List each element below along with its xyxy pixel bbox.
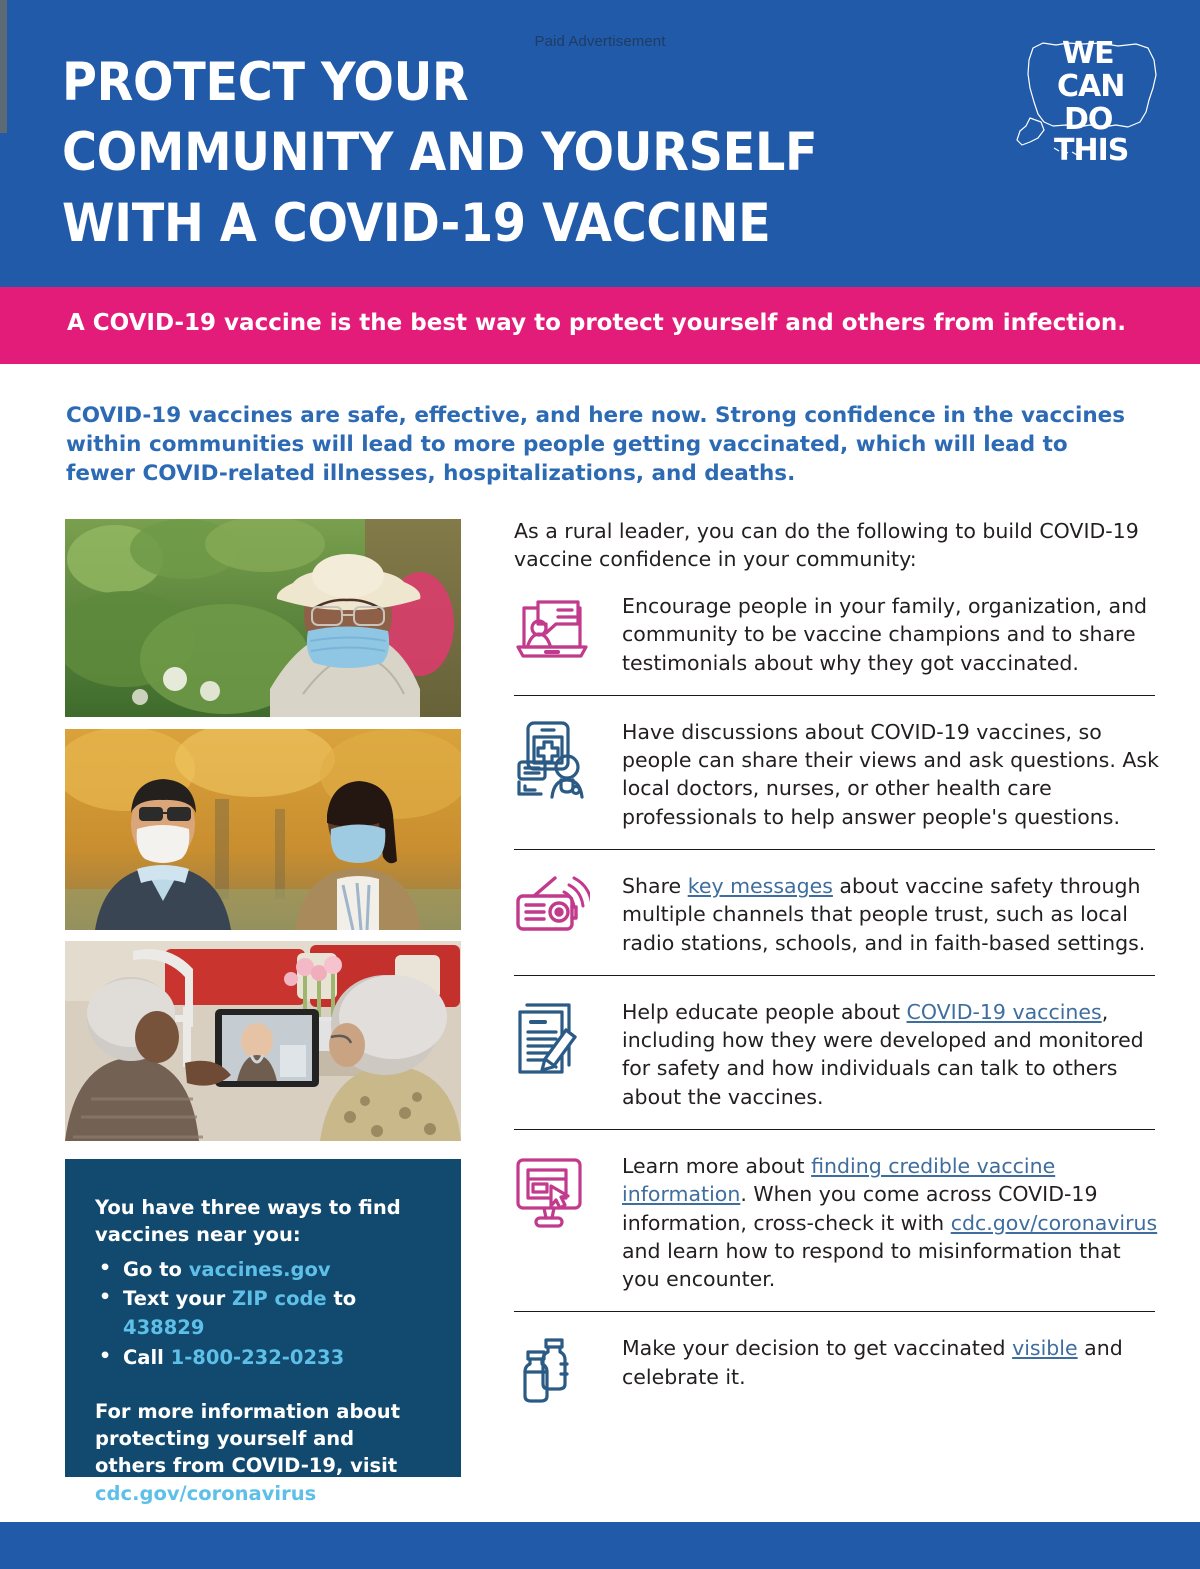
list-item: Learn more about finding credible vaccin… [514,1150,1159,1293]
list-item: Help educate people about COVID-19 vacci… [514,996,1159,1111]
intro-paragraph: COVID-19 vaccines are safe, effective, a… [66,402,1141,488]
tip-text: Make your decision to get vaccinated vis… [622,1332,1159,1391]
tip-text: Encourage people in your family, organiz… [622,590,1159,677]
banner-text: A COVID-19 vaccine is the best way to pr… [67,307,1147,339]
mobile-health-doctor-icon [514,716,622,800]
zip-code-emphasis: ZIP code [232,1287,327,1310]
headline-line-3: WITH A COVID-19 VACCINE [62,189,982,259]
tips-list: Encourage people in your family, organiz… [514,590,1159,1404]
cdc-gov-coronavirus-link[interactable]: cdc.gov/coronavirus [951,1211,1157,1235]
list-item: Make your decision to get vaccinated vis… [514,1332,1159,1404]
page-footer-bar [0,1522,1200,1569]
bullet-prefix: Text your [123,1287,232,1310]
logo-line-can: CAN [1057,69,1124,104]
more-info-prefix: For more information about protecting yo… [95,1400,400,1478]
covid-19-vaccines-link[interactable]: COVID-19 vaccines [907,1000,1102,1024]
sms-shortcode: 438829 [123,1316,204,1339]
bullet-middle: to [327,1287,357,1310]
list-item: Encourage people in your family, organiz… [514,590,1159,677]
logo-line-this: THIS [1054,133,1128,165]
bullet-prefix: Go to [123,1258,189,1281]
list-item: Go to vaccines.gov [95,1255,431,1284]
key-messages-link[interactable]: key messages [688,874,833,898]
infobox-bullet-list: Go to vaccines.gov Text your ZIP code to… [95,1255,431,1372]
tip-text-part: Help educate people about [622,1000,907,1024]
photo-two-people-talking-outdoors [65,729,461,930]
tip-text-part: Make your decision to get vaccinated [622,1336,1012,1360]
tip-text: Learn more about finding credible vaccin… [622,1150,1159,1293]
infobox-more-info: For more information about protecting yo… [95,1398,431,1507]
logo-line-we: WE [1062,36,1114,71]
visible-link[interactable]: visible [1012,1336,1078,1360]
tip-text-part: Share [622,874,688,898]
tip-text: Have discussions about COVID-19 vaccines… [622,716,1159,831]
list-item: Call 1-800-232-0233 [95,1343,431,1372]
vaccine-vials-icon [514,1332,622,1404]
photo-older-couple-telehealth-tablet [65,941,461,1141]
photo-man-in-hat-wearing-mask [65,519,461,717]
key-message-banner: A COVID-19 vaccine is the best way to pr… [0,287,1200,364]
laptop-chat-person-icon [514,590,622,664]
vaccines-gov-link[interactable]: vaccines.gov [189,1258,331,1281]
left-edge-artifact [0,0,7,133]
tip-text-part: Learn more about [622,1154,811,1178]
page-title: PROTECT YOUR COMMUNITY AND YOURSELF WITH… [62,48,982,259]
desktop-monitor-cursor-icon [514,1150,622,1232]
document-pen-icon [514,996,622,1080]
tip-text: Share key messages about vaccine safety … [622,870,1159,957]
page-header: Paid Advertisement PROTECT YOUR COMMUNIT… [0,0,1200,287]
cdc-coronavirus-link[interactable]: cdc.gov/coronavirus [95,1482,316,1505]
headline-line-2: COMMUNITY AND YOURSELF [62,118,982,188]
headline-line-1: PROTECT YOUR [62,48,982,118]
list-item: Have discussions about COVID-19 vaccines… [514,716,1159,831]
find-vaccines-infobox: You have three ways to find vaccines nea… [65,1159,461,1477]
more-info-suffix: . [316,1482,323,1505]
phone-number-link[interactable]: 1-800-232-0233 [171,1346,345,1369]
bullet-prefix: Call [123,1346,171,1369]
lead-paragraph: As a rural leader, you can do the follow… [514,518,1156,574]
logo-line-do: DO [1064,102,1112,137]
radio-broadcast-icon [514,870,622,936]
list-item: Share key messages about vaccine safety … [514,870,1159,957]
list-item: Text your ZIP code to 438829 [95,1284,431,1343]
tip-text: Help educate people about COVID-19 vacci… [622,996,1159,1111]
infobox-title: You have three ways to find vaccines nea… [95,1195,431,1249]
we-can-do-this-logo: WE CAN DO THIS [1008,30,1168,165]
tip-text-part: and learn how to respond to misinformati… [622,1239,1121,1291]
